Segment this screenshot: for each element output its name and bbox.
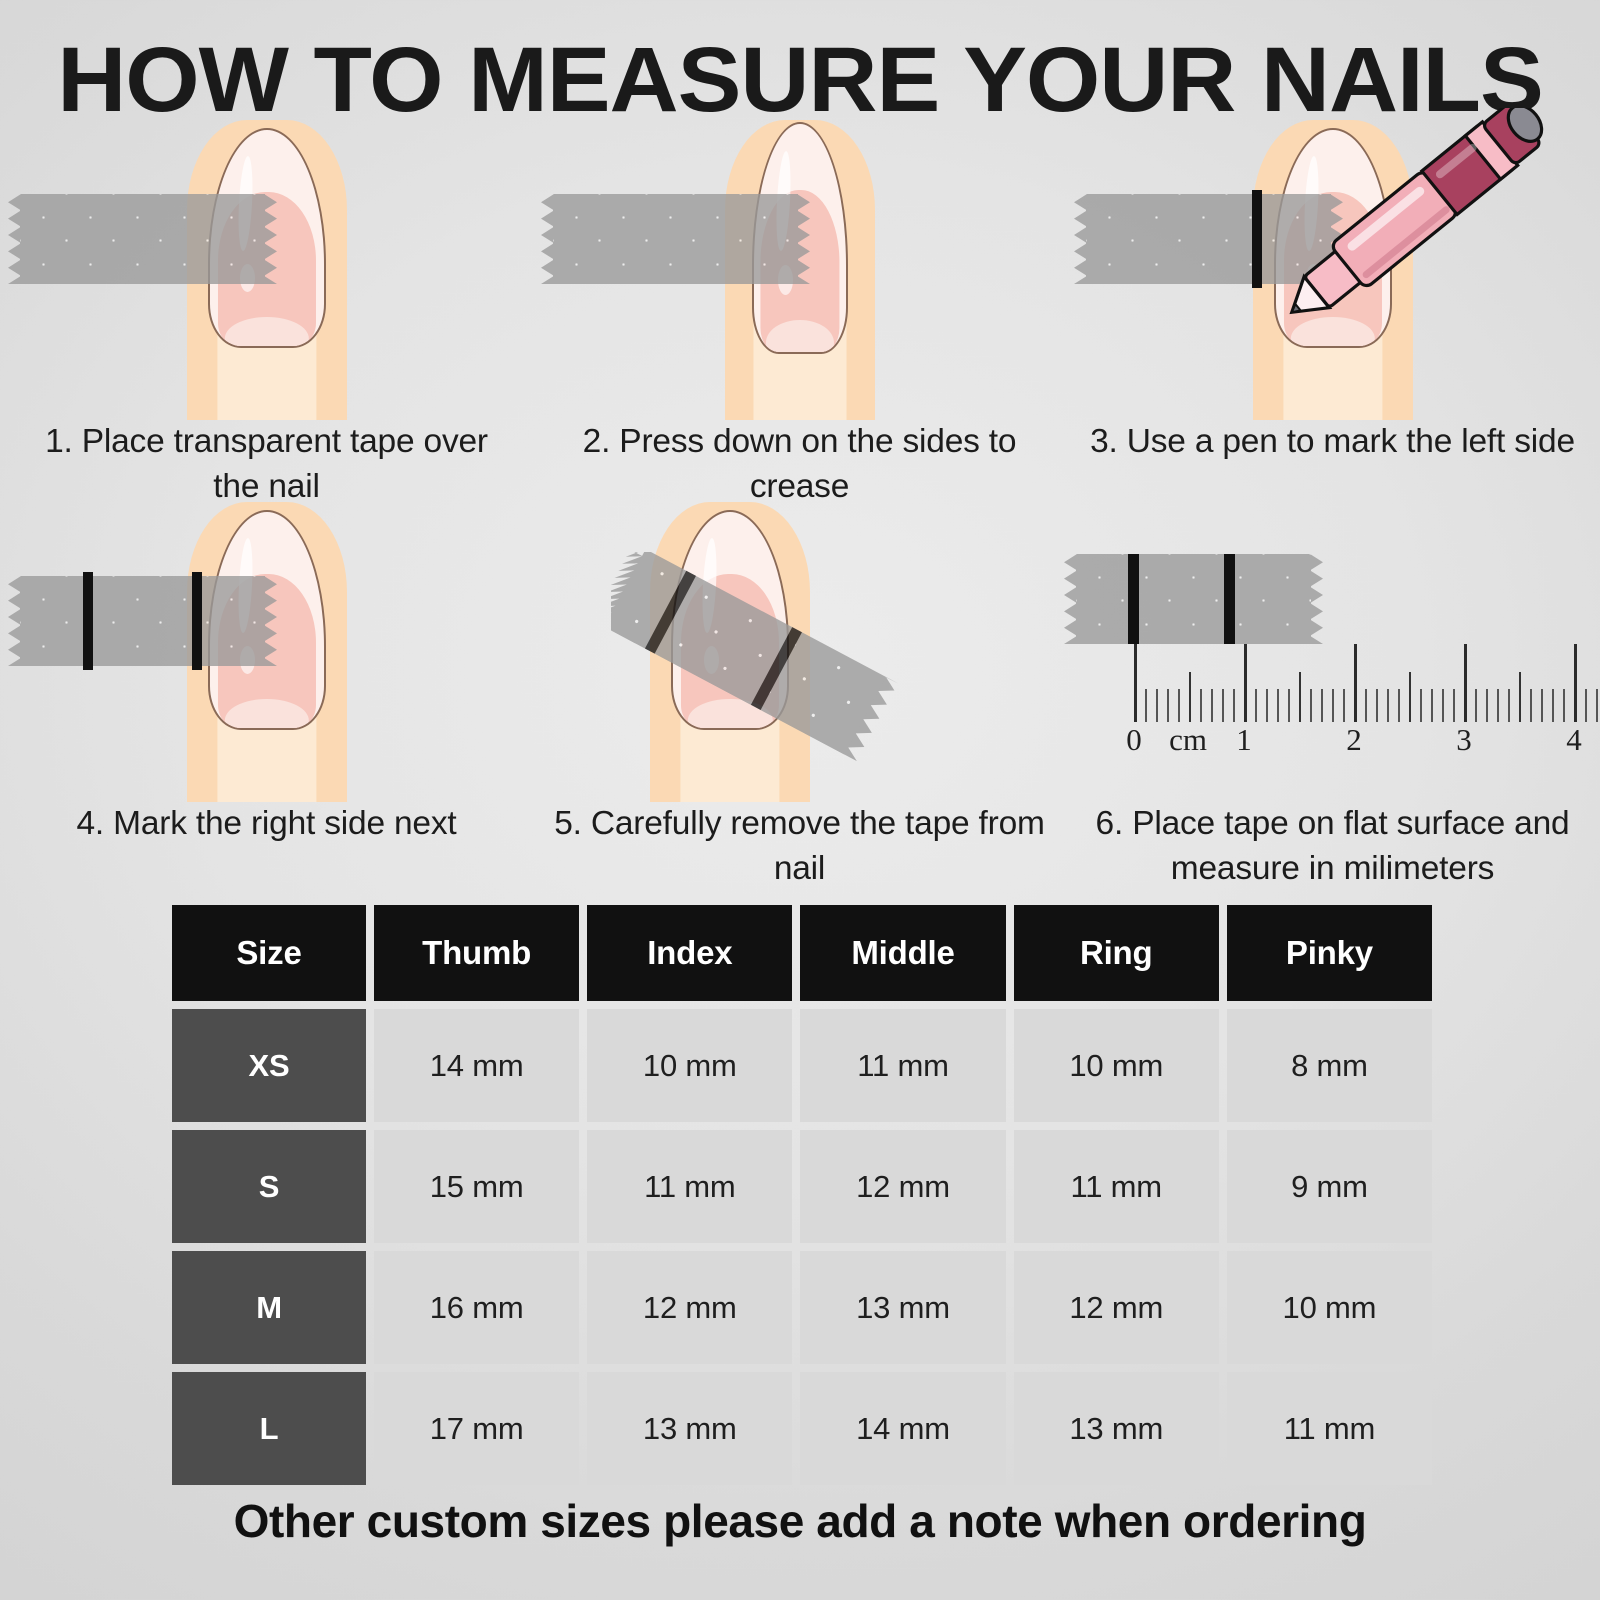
step-5: 5. Carefully remove the tape from nail	[533, 502, 1066, 891]
ruler-label-2: 2	[1346, 722, 1362, 758]
cell-middle: 11 mm	[800, 1009, 1005, 1122]
cell-pinky: 11 mm	[1227, 1372, 1432, 1485]
tape-removed-icon	[533, 502, 1066, 802]
cell-index: 11 mm	[587, 1130, 792, 1243]
ruler-measure-icon: 0 cm 1 2 3 4 5	[1066, 502, 1599, 802]
ruler-label-0: 0	[1126, 722, 1142, 758]
size-table: Size Thumb Index Middle Ring Pinky XS 14…	[172, 905, 1432, 1493]
step-2-caption: 2. Press down on the sides to crease	[533, 420, 1066, 509]
cell-thumb: 14 mm	[374, 1009, 579, 1122]
ruler-label-1: 1	[1236, 722, 1252, 758]
pen-marking-right-icon	[0, 502, 533, 802]
header-thumb: Thumb	[374, 905, 579, 1001]
step-6: 0 cm 1 2 3 4 5 6. Place tape on flat sur…	[1066, 502, 1599, 891]
size-label: L	[172, 1372, 366, 1485]
step-5-caption: 5. Carefully remove the tape from nail	[533, 802, 1066, 891]
step-6-caption: 6. Place tape on flat surface and measur…	[1066, 802, 1599, 891]
right-mark	[1224, 554, 1235, 644]
cell-middle: 14 mm	[800, 1372, 1005, 1485]
cell-pinky: 10 mm	[1227, 1251, 1432, 1364]
cell-pinky: 8 mm	[1227, 1009, 1432, 1122]
pen-marking-left-icon	[1066, 120, 1599, 420]
size-label: XS	[172, 1009, 366, 1122]
header-size: Size	[172, 905, 366, 1001]
cell-middle: 13 mm	[800, 1251, 1005, 1364]
header-middle: Middle	[800, 905, 1005, 1001]
cell-ring: 10 mm	[1014, 1009, 1219, 1122]
cell-index: 12 mm	[587, 1251, 792, 1364]
cell-index: 13 mm	[587, 1372, 792, 1485]
step-3: 3. Use a pen to mark the left side	[1066, 120, 1599, 465]
ruler: 0 cm 1 2 3 4 5	[1066, 644, 1526, 764]
right-mark	[192, 572, 202, 670]
ruler-label-4: 4	[1566, 722, 1582, 758]
nail-creased-tape-icon	[533, 120, 1066, 420]
cell-pinky: 9 mm	[1227, 1130, 1432, 1243]
table-row: M 16 mm 12 mm 13 mm 12 mm 10 mm	[172, 1251, 1432, 1364]
step-1: 1. Place transparent tape over the nail	[0, 120, 533, 509]
cell-thumb: 17 mm	[374, 1372, 579, 1485]
left-mark	[1128, 554, 1139, 644]
step-4-caption: 4. Mark the right side next	[0, 802, 533, 847]
table-row: XS 14 mm 10 mm 11 mm 10 mm 8 mm	[172, 1009, 1432, 1122]
size-label: S	[172, 1130, 366, 1243]
ruler-unit-label: cm	[1169, 722, 1207, 758]
nail-with-tape-icon	[0, 120, 533, 420]
cell-thumb: 16 mm	[374, 1251, 579, 1364]
cell-index: 10 mm	[587, 1009, 792, 1122]
table-row: L 17 mm 13 mm 14 mm 13 mm 11 mm	[172, 1372, 1432, 1485]
header-ring: Ring	[1014, 905, 1219, 1001]
step-3-caption: 3. Use a pen to mark the left side	[1066, 420, 1599, 465]
step-4: 4. Mark the right side next	[0, 502, 533, 847]
step-1-caption: 1. Place transparent tape over the nail	[0, 420, 533, 509]
table-row: S 15 mm 11 mm 12 mm 11 mm 9 mm	[172, 1130, 1432, 1243]
size-label: M	[172, 1251, 366, 1364]
ruler-label-3: 3	[1456, 722, 1472, 758]
step-2: 2. Press down on the sides to crease	[533, 120, 1066, 509]
footer-note: Other custom sizes please add a note whe…	[0, 1494, 1600, 1548]
cell-ring: 13 mm	[1014, 1372, 1219, 1485]
header-pinky: Pinky	[1227, 905, 1432, 1001]
cell-ring: 11 mm	[1014, 1130, 1219, 1243]
cell-thumb: 15 mm	[374, 1130, 579, 1243]
header-index: Index	[587, 905, 792, 1001]
table-header-row: Size Thumb Index Middle Ring Pinky	[172, 905, 1432, 1001]
left-mark	[83, 572, 93, 670]
cell-ring: 12 mm	[1014, 1251, 1219, 1364]
cell-middle: 12 mm	[800, 1130, 1005, 1243]
